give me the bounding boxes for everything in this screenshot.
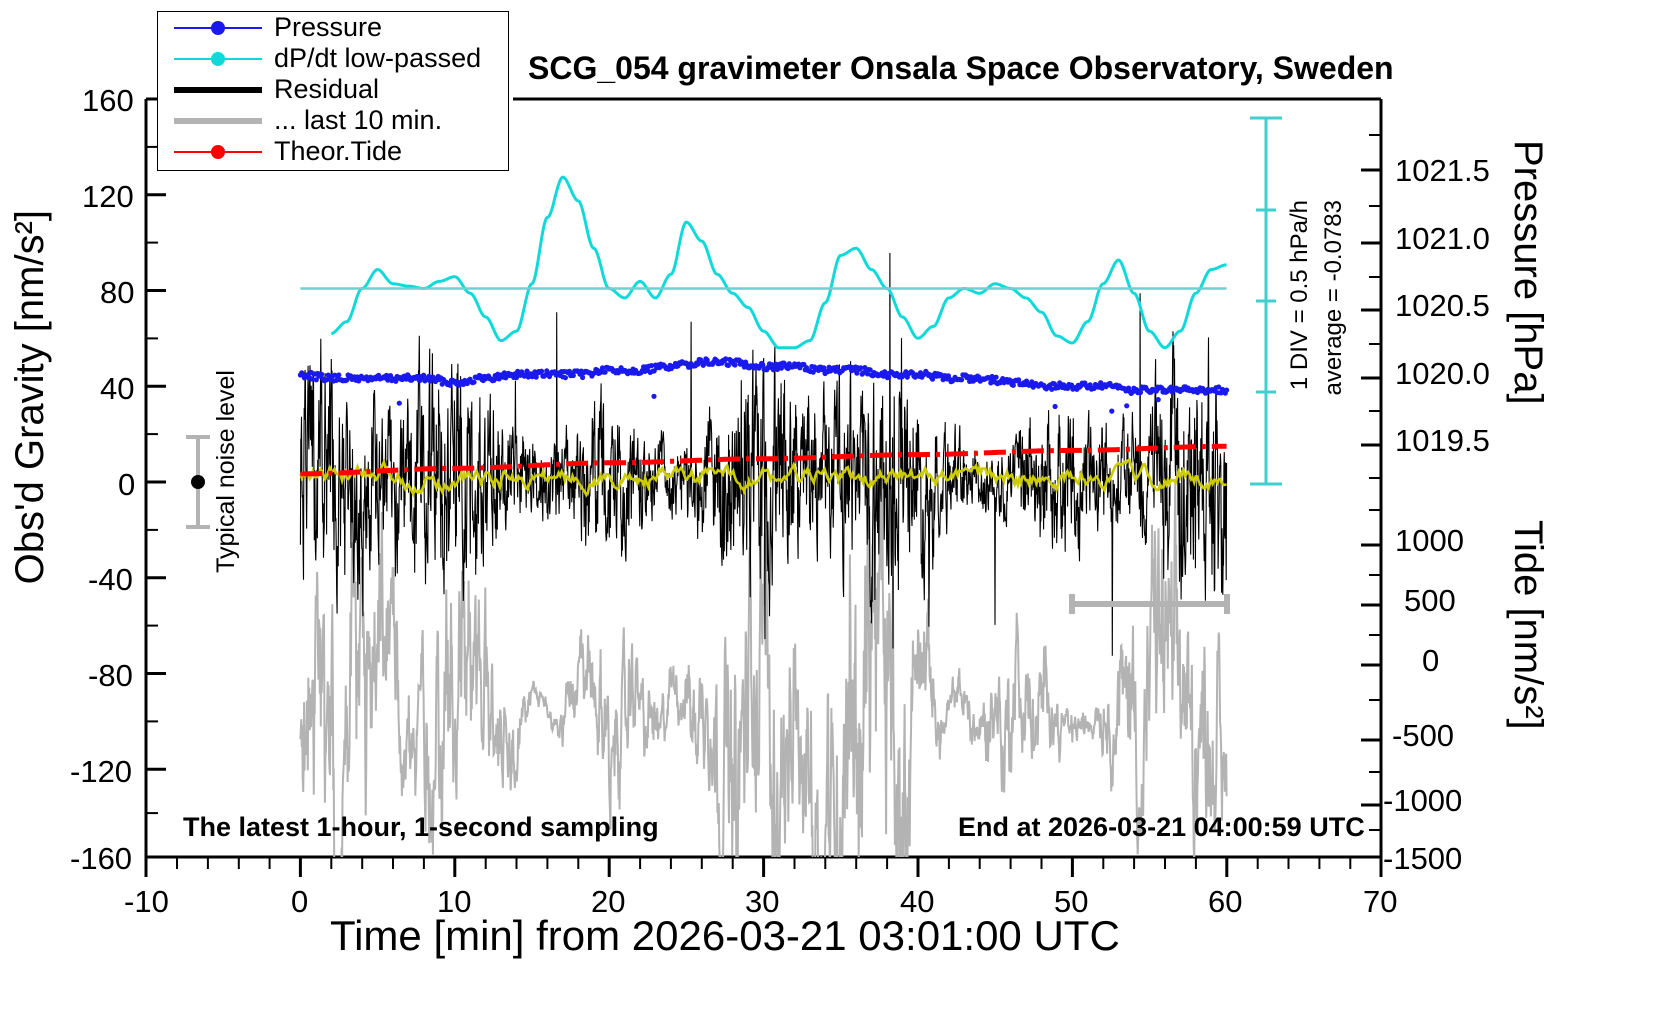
legend-item-theor-tide[interactable]: Theor.Tide	[172, 136, 508, 167]
right-axis-ticks	[1361, 170, 1381, 857]
legend-label-last-10-min: ... last 10 min.	[274, 105, 442, 136]
legend-swatch-last-10-min	[172, 107, 264, 135]
tide-tick-n1500: -1500	[1383, 841, 1462, 877]
typical-noise-label: Typical noise level	[212, 370, 241, 573]
legend-swatch-theor-tide	[172, 138, 264, 166]
page-title: SCG_054 gravimeter Onsala Space Observat…	[528, 50, 1394, 87]
typical-noise-errorbar	[186, 437, 210, 527]
left-tick-40: 40	[100, 371, 134, 407]
tide-tick-1000: 1000	[1395, 523, 1464, 559]
tide-tick-n1000: -1000	[1383, 783, 1462, 819]
right-axis-minor-ticks	[1369, 135, 1381, 830]
legend-item-last-10-min[interactable]: ... last 10 min.	[172, 105, 508, 136]
tide-tick-0: 0	[1422, 643, 1439, 679]
legend-item-dpdt[interactable]: dP/dt low-passed	[172, 43, 508, 74]
series-residual-smoothed	[300, 460, 1226, 495]
left-tick-0: 0	[118, 467, 135, 503]
pressure-axis-title: Pressure [hPa]	[1505, 140, 1550, 405]
last-10-min-bracket	[1072, 594, 1227, 614]
left-axis-title: Obs'd Gravity [nm/s²]	[8, 210, 53, 584]
left-tick-120: 120	[82, 179, 134, 215]
legend-swatch-pressure	[172, 14, 264, 42]
bottom-tick-0: 0	[291, 884, 308, 920]
bottom-tick-n10: -10	[124, 884, 169, 920]
average-annotation: average = -0.0783	[1320, 200, 1348, 395]
left-tick-160: 160	[82, 83, 134, 119]
tide-tick-500: 500	[1404, 583, 1456, 619]
legend-label-residual: Residual	[274, 74, 379, 105]
legend-box: Pressure dP/dt low-passed Residual ... l…	[157, 11, 509, 171]
pressure-tick-1021-0: 1021.0	[1395, 221, 1490, 257]
legend-item-residual[interactable]: Residual	[172, 74, 508, 105]
left-tick-n80: -80	[88, 658, 133, 694]
left-tick-n120: -120	[70, 754, 132, 790]
left-axis-minor-ticks	[146, 147, 158, 813]
series-dpdt-lowpassed	[331, 177, 1226, 348]
footer-left-note: The latest 1-hour, 1-second sampling	[183, 812, 659, 843]
pressure-tick-1020-5: 1020.5	[1395, 288, 1490, 324]
legend-swatch-residual	[172, 76, 264, 104]
legend-label-pressure: Pressure	[274, 12, 382, 43]
pressure-tick-1020-0: 1020.0	[1395, 356, 1490, 392]
tide-tick-n500: -500	[1392, 718, 1454, 754]
gravimeter-plot-page: SCG_054 gravimeter Onsala Space Observat…	[0, 0, 1660, 1020]
footer-right-note: End at 2026-03-21 04:00:59 UTC	[958, 812, 1365, 843]
left-tick-80: 80	[100, 275, 134, 311]
left-tick-n40: -40	[88, 562, 133, 598]
pressure-tick-1021-5: 1021.5	[1395, 153, 1490, 189]
bottom-axis-title: Time [min] from 2026-03-21 03:01:00 UTC	[330, 912, 1120, 960]
legend-item-pressure[interactable]: Pressure	[172, 12, 508, 43]
dpdt-scale-bar	[1250, 118, 1282, 484]
legend-swatch-dpdt	[172, 45, 264, 73]
legend-label-dpdt: dP/dt low-passed	[274, 43, 481, 74]
left-axis-ticks	[146, 99, 166, 857]
bottom-tick-60: 60	[1208, 884, 1242, 920]
pressure-tick-1019-5: 1019.5	[1395, 423, 1490, 459]
legend-label-theor-tide: Theor.Tide	[274, 136, 402, 167]
bottom-tick-70: 70	[1363, 884, 1397, 920]
div-scale-annotation: 1 DIV = 0.5 hPa/h	[1286, 200, 1314, 390]
left-tick-n160: -160	[70, 841, 132, 877]
tide-axis-title: Tide [nm/s²]	[1505, 520, 1550, 730]
